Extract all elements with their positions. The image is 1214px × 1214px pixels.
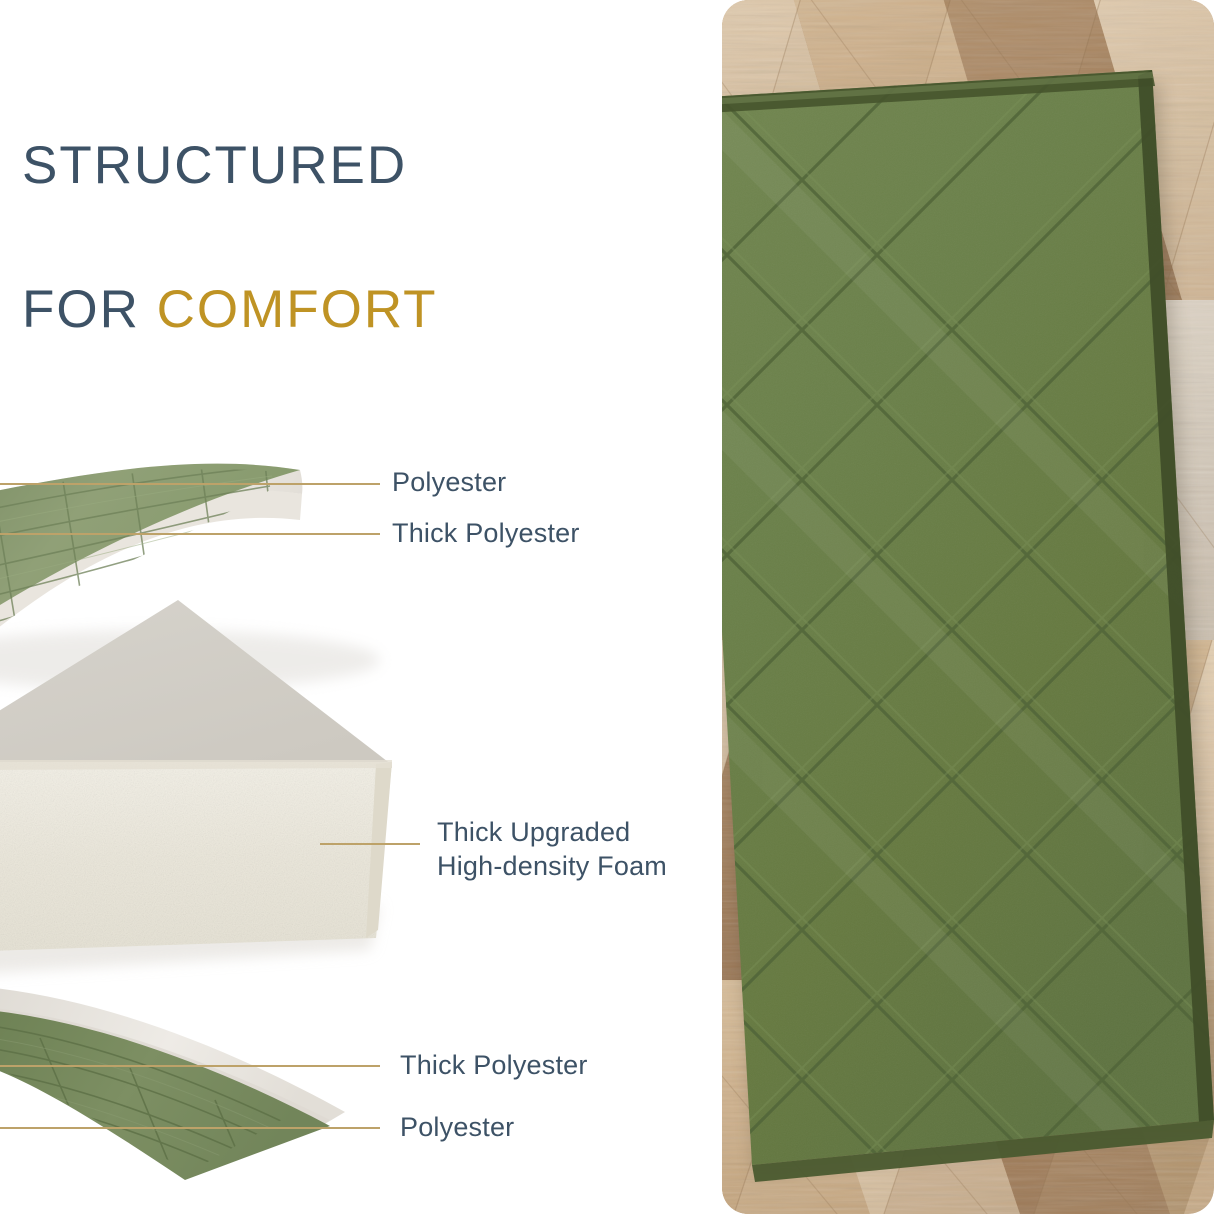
callout-label-polyester-top: Polyester: [392, 465, 506, 499]
leader-line-thick-polyester-bottom: [0, 1065, 380, 1067]
foam-core-top-face: [0, 600, 392, 768]
quilted-mattress-pad: [722, 0, 1214, 1214]
leader-line-polyester-top: [0, 483, 380, 485]
photo-content: [722, 0, 1214, 1214]
layer-group-bottom: [0, 985, 345, 1186]
callout-label-thick-polyester-top: Thick Polyester: [392, 516, 580, 550]
promo-infographic: STRUCTURED FOR COMFORT: [0, 0, 1214, 1214]
callout-label-thick-polyester-bottom: Thick Polyester: [400, 1048, 588, 1082]
leader-line-polyester-bottom: [0, 1127, 380, 1129]
callout-label-polyester-bottom: Polyester: [400, 1110, 514, 1144]
product-photo: [722, 0, 1214, 1214]
callout-label-foam-core: Thick Upgraded High-density Foam: [437, 815, 667, 883]
leader-line-thick-polyester-top: [0, 533, 380, 535]
leader-line-foam-core: [320, 843, 420, 845]
exploded-layer-diagram: [0, 0, 720, 1214]
